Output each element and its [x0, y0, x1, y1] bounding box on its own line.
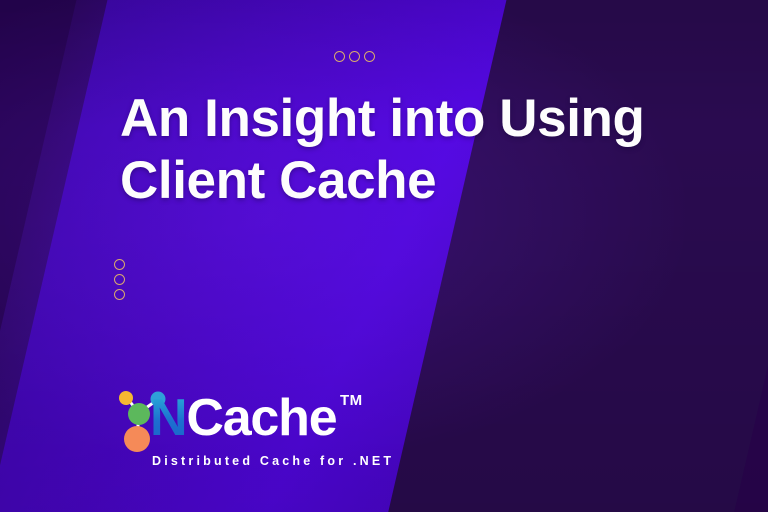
circle-ring-icon [114, 289, 125, 300]
ncache-logo: NCache TM Distributed Cache for .NET [108, 386, 388, 486]
trademark-symbol: TM [340, 392, 363, 409]
circle-ring-icon [334, 51, 345, 62]
node-top-left-icon [119, 391, 133, 405]
logo-letter-n: N [150, 389, 186, 447]
page-title: An Insight into Using Client Cache [120, 88, 680, 212]
circle-ring-icon [114, 274, 125, 285]
circle-ring-icon [349, 51, 360, 62]
banner-canvas: An Insight into Using Client Cache NCach… [0, 0, 768, 512]
logo-text-cache: Cache [186, 389, 336, 447]
circle-ring-icon [364, 51, 375, 62]
decor-dots-top [334, 51, 375, 62]
page-title-line-2: Client Cache [120, 151, 436, 210]
node-center-icon [128, 403, 150, 425]
page-title-line-1: An Insight into Using [120, 89, 644, 148]
logo-tagline: Distributed Cache for .NET [152, 454, 394, 468]
circle-ring-icon [114, 259, 125, 270]
node-bottom-icon [124, 426, 150, 452]
logo-wordmark: NCache [150, 392, 336, 444]
logo-wordmark-row: NCache TM [108, 386, 388, 454]
decor-dots-left [114, 259, 125, 300]
